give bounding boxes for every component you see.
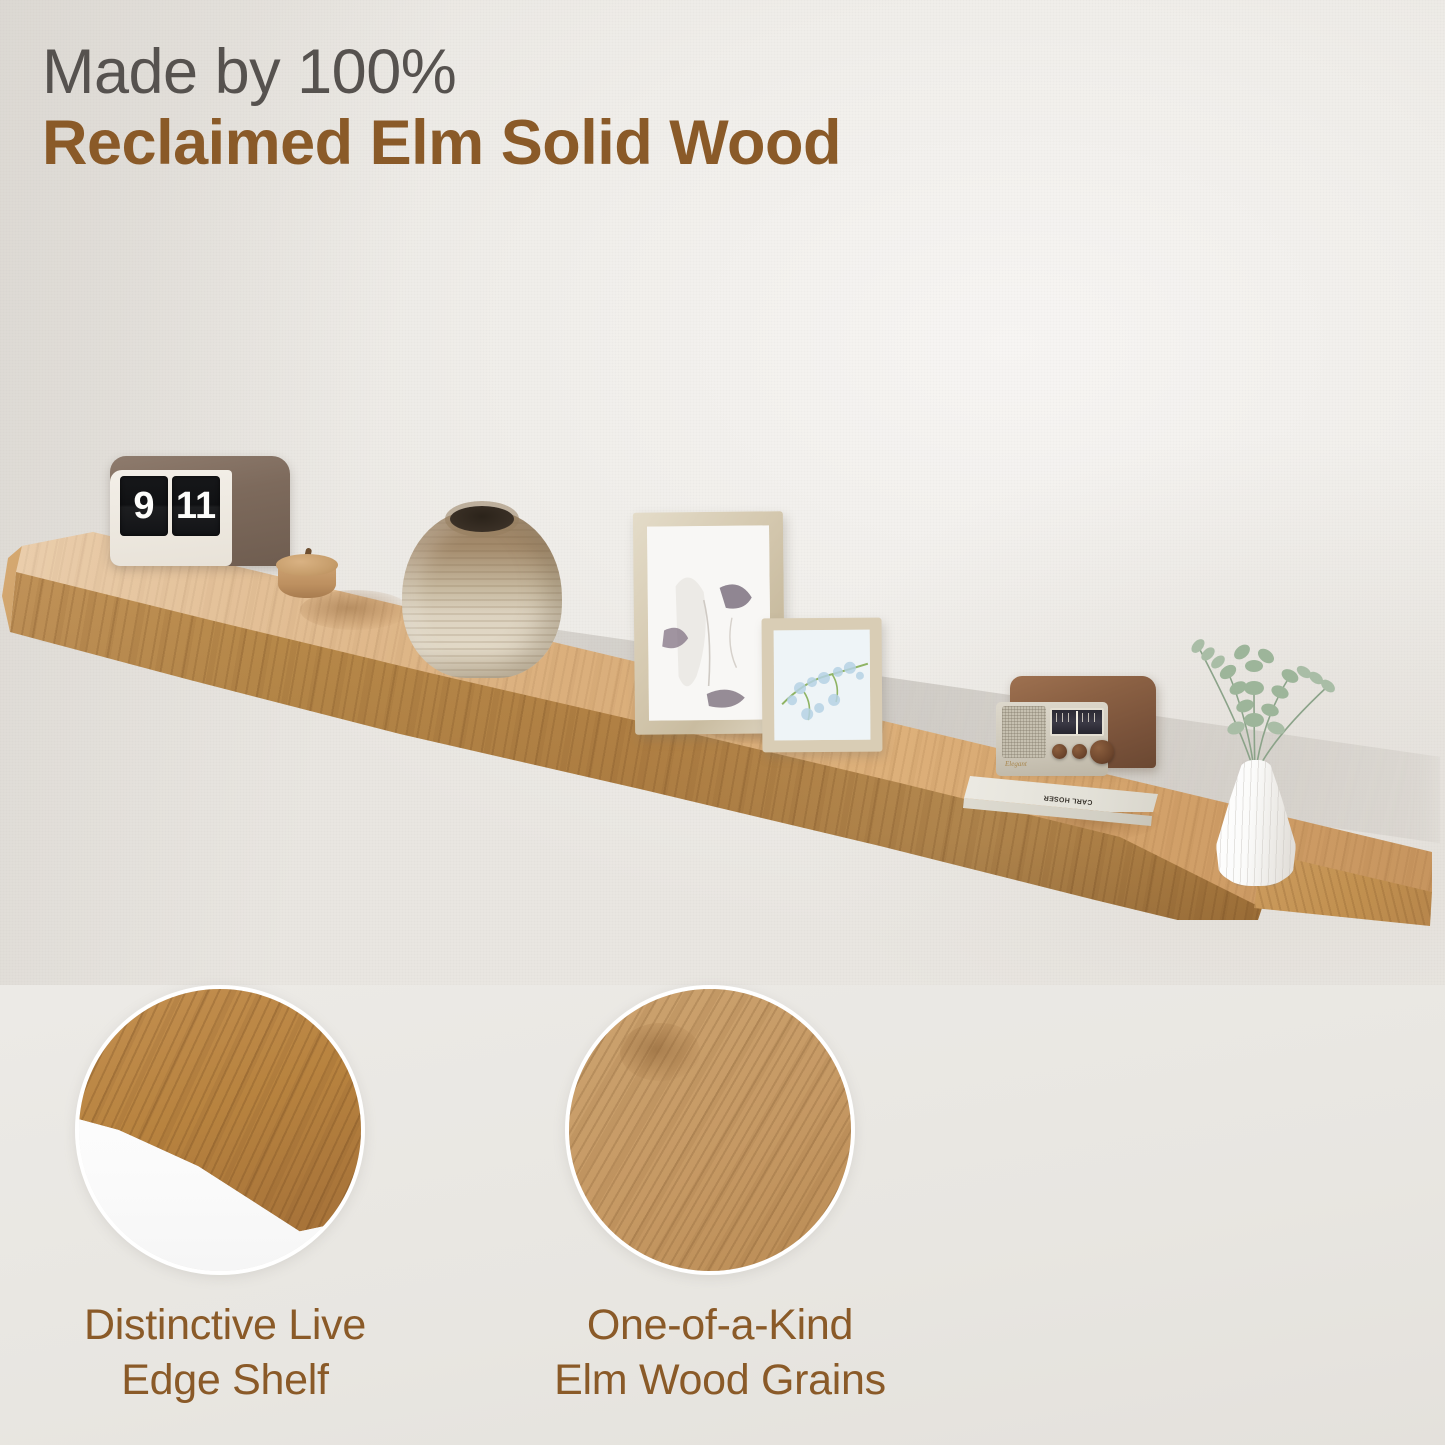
feature-inset-live-edge — [75, 985, 365, 1275]
radio-knob-band — [1072, 744, 1087, 759]
feature-caption-live-edge: Distinctive Live Edge Shelf — [10, 1298, 440, 1408]
headline-line-2: Reclaimed Elm Solid Wood — [42, 108, 841, 179]
feature-inset-wood-grain — [565, 985, 855, 1275]
abstract-art-svg — [647, 525, 771, 720]
radio-dial-needle — [1076, 711, 1078, 735]
box-lid — [276, 554, 338, 576]
ribbed-ceramic-vase — [402, 500, 562, 680]
vase-body — [1216, 760, 1296, 886]
radio-front-panel: Elegant — [996, 702, 1108, 776]
frame-artwork — [774, 630, 871, 741]
clock-minute-panel: 11 — [172, 476, 220, 536]
eucalyptus-stems — [1150, 580, 1360, 780]
clock-hour-panel: 9 — [120, 476, 168, 536]
pot-opening — [450, 506, 514, 532]
pot-body — [402, 510, 562, 678]
caption-line-2: Elm Wood Grains — [480, 1353, 960, 1408]
flip-clock: 9 11 — [110, 456, 290, 576]
vintage-radio: Elegant — [996, 676, 1156, 786]
caption-line-1: One-of-a-Kind — [480, 1298, 960, 1353]
floral-art-svg — [774, 630, 871, 741]
radio-brand-label: Elegant — [1005, 760, 1027, 768]
radio-speaker-grille — [1002, 706, 1046, 758]
radio-knob-volume — [1052, 744, 1067, 759]
radio-tuning-dial — [1050, 708, 1104, 736]
caption-line-1: Distinctive Live — [10, 1298, 440, 1353]
headline-block: Made by 100% Reclaimed Elm Solid Wood — [42, 40, 841, 179]
caption-line-2: Edge Shelf — [10, 1353, 440, 1408]
feature-caption-elm-grain: One-of-a-Kind Elm Wood Grains — [480, 1298, 960, 1408]
white-ribbed-vase — [1208, 760, 1304, 886]
radio-knob-tuning — [1090, 740, 1114, 764]
wood-knot — [620, 1023, 700, 1081]
headline-line-1: Made by 100% — [42, 40, 841, 104]
small-photo-frame — [762, 618, 883, 753]
elm-grain-texture — [565, 985, 855, 1275]
feature-panel: Distinctive Live Edge Shelf One-of-a-Kin… — [0, 985, 1445, 1445]
product-photo-scene: Made by 100% Reclaimed Elm Solid Wood 9 … — [0, 0, 1445, 985]
frame-artwork — [647, 525, 771, 720]
wooden-lidded-box — [276, 548, 338, 602]
